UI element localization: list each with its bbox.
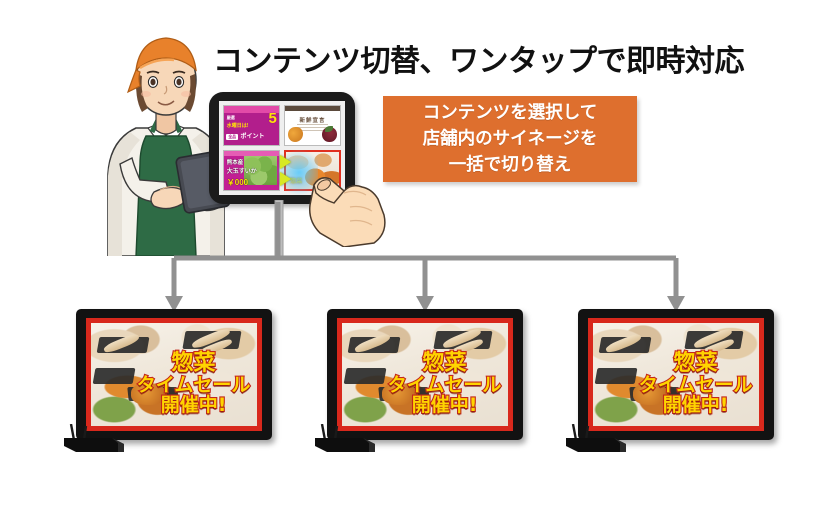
monitor1-line-1: 惣菜 <box>137 352 251 375</box>
callout-line-1: コンテンツを選択して <box>423 100 597 126</box>
monitor2-red-frame: 惣菜 タイムセール 開催中! <box>337 318 513 431</box>
monitor3-red-frame: 惣菜 タイムセール 開催中! <box>588 318 764 431</box>
food-tray <box>595 368 638 384</box>
thumb1-line1: 厳選 <box>227 115 235 121</box>
monitor3-promo-text: 惣菜 タイムセール 開催中! <box>639 352 753 416</box>
monitor1-red-frame: 惣菜 タイムセール 開催中! <box>86 318 262 431</box>
monitor3-line-1: 惣菜 <box>639 352 753 375</box>
thumb1-line2: 水曜日は! <box>227 122 249 129</box>
thumb2-rule-1 <box>297 124 328 125</box>
diagram-canvas: コンテンツ切替、ワンタップで即時対応 コンテンツを選択して 店舗内のサイネージを… <box>0 0 840 516</box>
monitor2-line-3: 開催中! <box>388 395 502 415</box>
thumbnail-fresh-notice[interactable]: 新鮮宣言 <box>284 105 341 146</box>
thumb2-fruit-left <box>288 127 302 142</box>
set-top-box-1 <box>62 424 136 454</box>
thumb3-line1: 熊本産 <box>227 158 244 166</box>
monitor2-line-2: タイムセール <box>388 375 502 395</box>
thumb3-price: ￥000 <box>227 179 248 187</box>
thumbnail-points-campaign[interactable]: 厳選 水曜日は! 5 全品 ポイント <box>223 105 280 146</box>
set-top-box-2 <box>313 424 387 454</box>
signage-display-1[interactable]: 惣菜 タイムセール 開催中! <box>76 309 272 440</box>
thumb1-badge: 5 <box>268 111 276 126</box>
monitor1-screen: 惣菜 タイムセール 開催中! <box>91 323 257 426</box>
thumbnail-watermelon[interactable]: 熊本産 大玉すいか ￥000 <box>223 150 280 191</box>
monitor3-bezel: 惣菜 タイムセール 開催中! <box>578 309 774 440</box>
monitor2-bezel: 惣菜 タイムセール 開催中! <box>327 309 523 440</box>
set-top-box-3 <box>564 424 638 454</box>
callout-line-3: 一括で切り替え <box>449 152 572 178</box>
callout-box: コンテンツを選択して 店舗内のサイネージを 一括で切り替え <box>383 96 637 182</box>
monitor1-line-3: 開催中! <box>137 395 251 415</box>
thumb1-pill: 全品 <box>226 134 238 140</box>
food-tray <box>344 368 387 384</box>
thumb3-line2: 大玉すいか <box>227 166 257 175</box>
distribution-connector <box>0 200 840 320</box>
thumb2-title: 新鮮宣言 <box>285 116 340 124</box>
thumb3-top-bar <box>224 151 279 156</box>
monitor1-promo-text: 惣菜 タイムセール 開催中! <box>137 352 251 416</box>
food-tray <box>93 368 136 384</box>
thumb1-label: ポイント <box>241 131 265 140</box>
monitor3-screen: 惣菜 タイムセール 開催中! <box>593 323 759 426</box>
signage-display-2[interactable]: 惣菜 タイムセール 開催中! <box>327 309 523 440</box>
thumb2-header <box>285 106 340 111</box>
monitor2-line-1: 惣菜 <box>388 352 502 375</box>
monitor1-bezel: 惣菜 タイムセール 開催中! <box>76 309 272 440</box>
page-title: コンテンツ切替、ワンタップで即時対応 <box>213 36 744 80</box>
monitor2-promo-text: 惣菜 タイムセール 開催中! <box>388 352 502 416</box>
monitor3-line-2: タイムセール <box>639 375 753 395</box>
callout-line-2: 店舗内のサイネージを <box>423 126 598 152</box>
monitor2-screen: 惣菜 タイムセール 開催中! <box>342 323 508 426</box>
monitor1-line-2: タイムセール <box>137 375 251 395</box>
thumb2-rule-2 <box>297 127 328 128</box>
monitor3-line-3: 開催中! <box>639 395 753 415</box>
signage-display-3[interactable]: 惣菜 タイムセール 開催中! <box>578 309 774 440</box>
